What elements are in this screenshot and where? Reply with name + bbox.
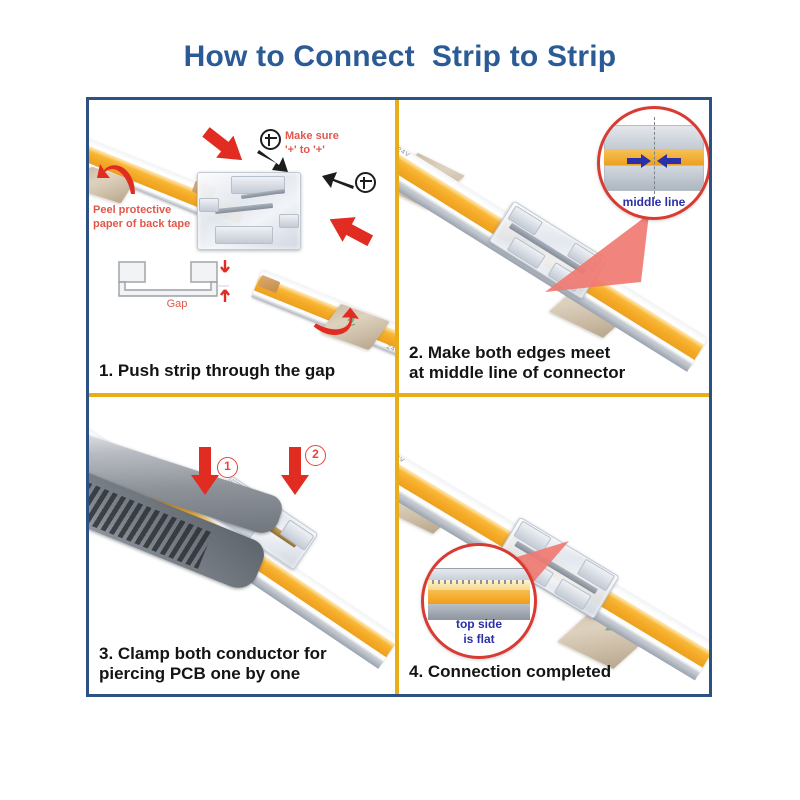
panel-step-1: 24V 24V 2 [89, 100, 399, 397]
clamp-arrow-first-icon [191, 447, 219, 495]
polarity-arrow-bottom-icon [322, 170, 356, 197]
panel-2-artwork: 2 2 24V [399, 100, 709, 393]
xsec-contact-dots [432, 580, 525, 584]
panel-4-caption: 4. Connection completed [409, 662, 703, 682]
panel-2-caption: 2. Make both edges meet at middle line o… [409, 343, 703, 383]
panel-step-2: 2 2 24V [399, 100, 709, 397]
gap-diagram: Gap [117, 258, 237, 316]
top-side-flat-inset-label: top side is flat [424, 617, 534, 646]
panel-4-artwork: 2 2 24V [399, 397, 709, 694]
panel-step-3: 1 2 3. Clamp both conductor for piercing… [89, 397, 399, 694]
connector-cross-section [428, 568, 529, 622]
plus-badge-bottom-icon [355, 172, 376, 193]
plus-badge-top-icon [260, 129, 281, 150]
middle-line-inset-label: middle line [600, 195, 708, 209]
clamp-marker-2: 2 [305, 445, 326, 466]
push-arrow-right-icon [323, 207, 377, 253]
panel-1-caption: 1. Push strip through the gap [99, 361, 389, 381]
peel-curved-arrow-left-icon [97, 158, 139, 200]
top-side-flat-inset: top side is flat [421, 543, 537, 659]
panel-step-4: 2 2 24V [399, 397, 709, 694]
panel-1-artwork: 24V 24V 2 [89, 100, 395, 393]
instruction-grid: 24V 24V 2 [86, 97, 712, 697]
clamp-marker-1: 1 [217, 457, 238, 478]
page-title: How to Connect Strip to Strip [0, 40, 800, 74]
connector-side-tab [279, 214, 299, 228]
gap-label: Gap [117, 298, 237, 310]
peel-protective-note: Peel protective paper of back tape [93, 204, 213, 232]
polarity-note: Make sure '+' to '+' [285, 130, 371, 158]
panel-3-artwork: 1 2 3. Clamp both conductor for piercing… [89, 397, 395, 694]
connector-bottom-clip [215, 226, 273, 244]
xsec-cob-layer [428, 590, 529, 604]
middle-line-arrows-icon [625, 153, 683, 174]
middle-line-inset: middle line [597, 106, 709, 220]
panel-3-caption: 3. Clamp both conductor for piercing PCB… [99, 644, 389, 684]
push-arrow-left-icon [197, 121, 250, 171]
inset-pointer-cone [545, 208, 655, 303]
